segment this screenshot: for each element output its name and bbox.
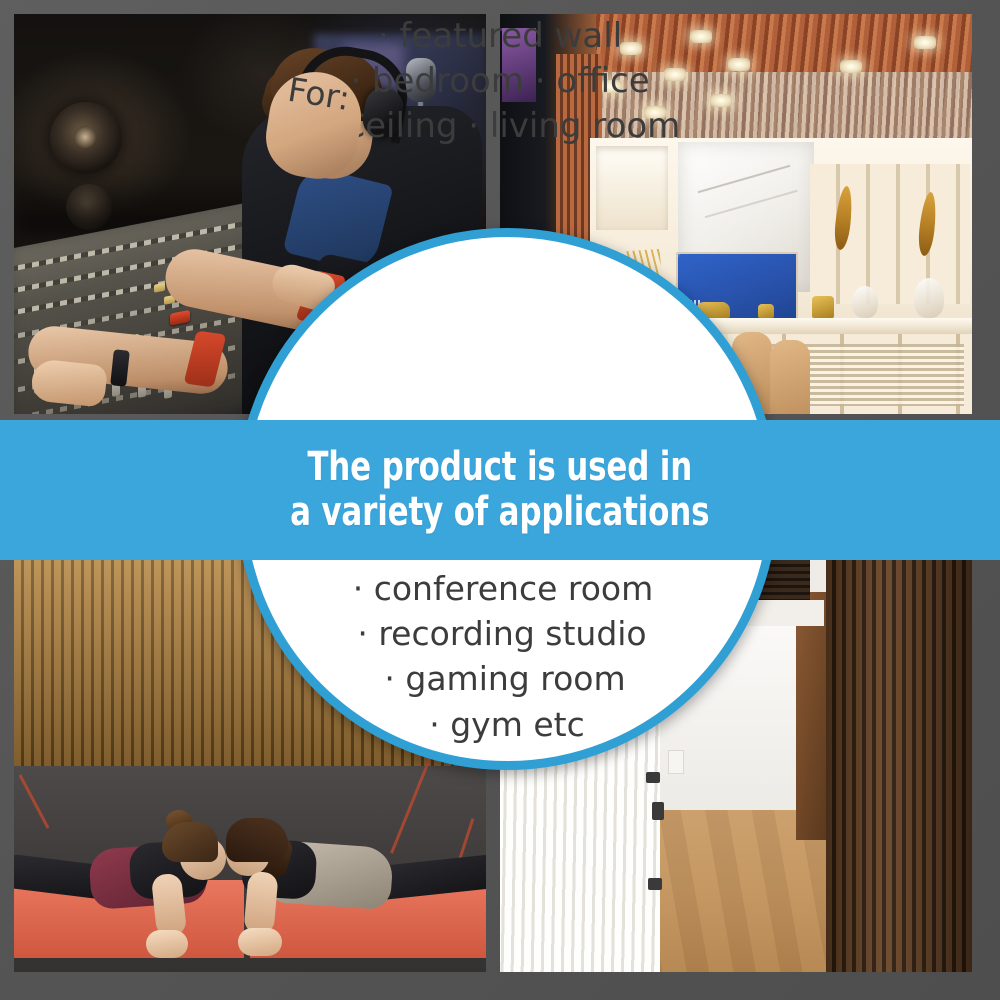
gold-ornament-1 [812,296,834,318]
person2-hair [226,818,288,862]
door-handle-icon [668,750,684,774]
microphone-icon [406,58,436,102]
wall-socket-1 [646,772,660,783]
person1-hand [146,930,188,958]
wall-niche [596,146,668,230]
glass-vase-1 [852,286,878,318]
infographic-canvas: For: · featured wall · bedroom · office … [0,0,1000,1000]
banner-line-2: a variety of applications [290,490,709,535]
hallway-slat-shading [826,560,972,972]
person2-hand [238,928,282,956]
banner-line-1: The product is used in [308,444,693,490]
gold-ornament-2 [758,304,774,318]
wall-socket-2 [648,878,662,890]
studio-monitor-speaker [50,102,122,174]
product-banner: The product is used in a variety of appl… [0,420,1000,560]
person2-arm [243,871,278,935]
banner-text: The product is used in a variety of appl… [290,445,709,535]
dining-chair-2 [770,340,810,414]
person1-hair [162,822,218,862]
purple-screen [502,28,536,102]
glass-vase-2 [914,278,944,318]
wall-panel-icon [652,802,664,820]
